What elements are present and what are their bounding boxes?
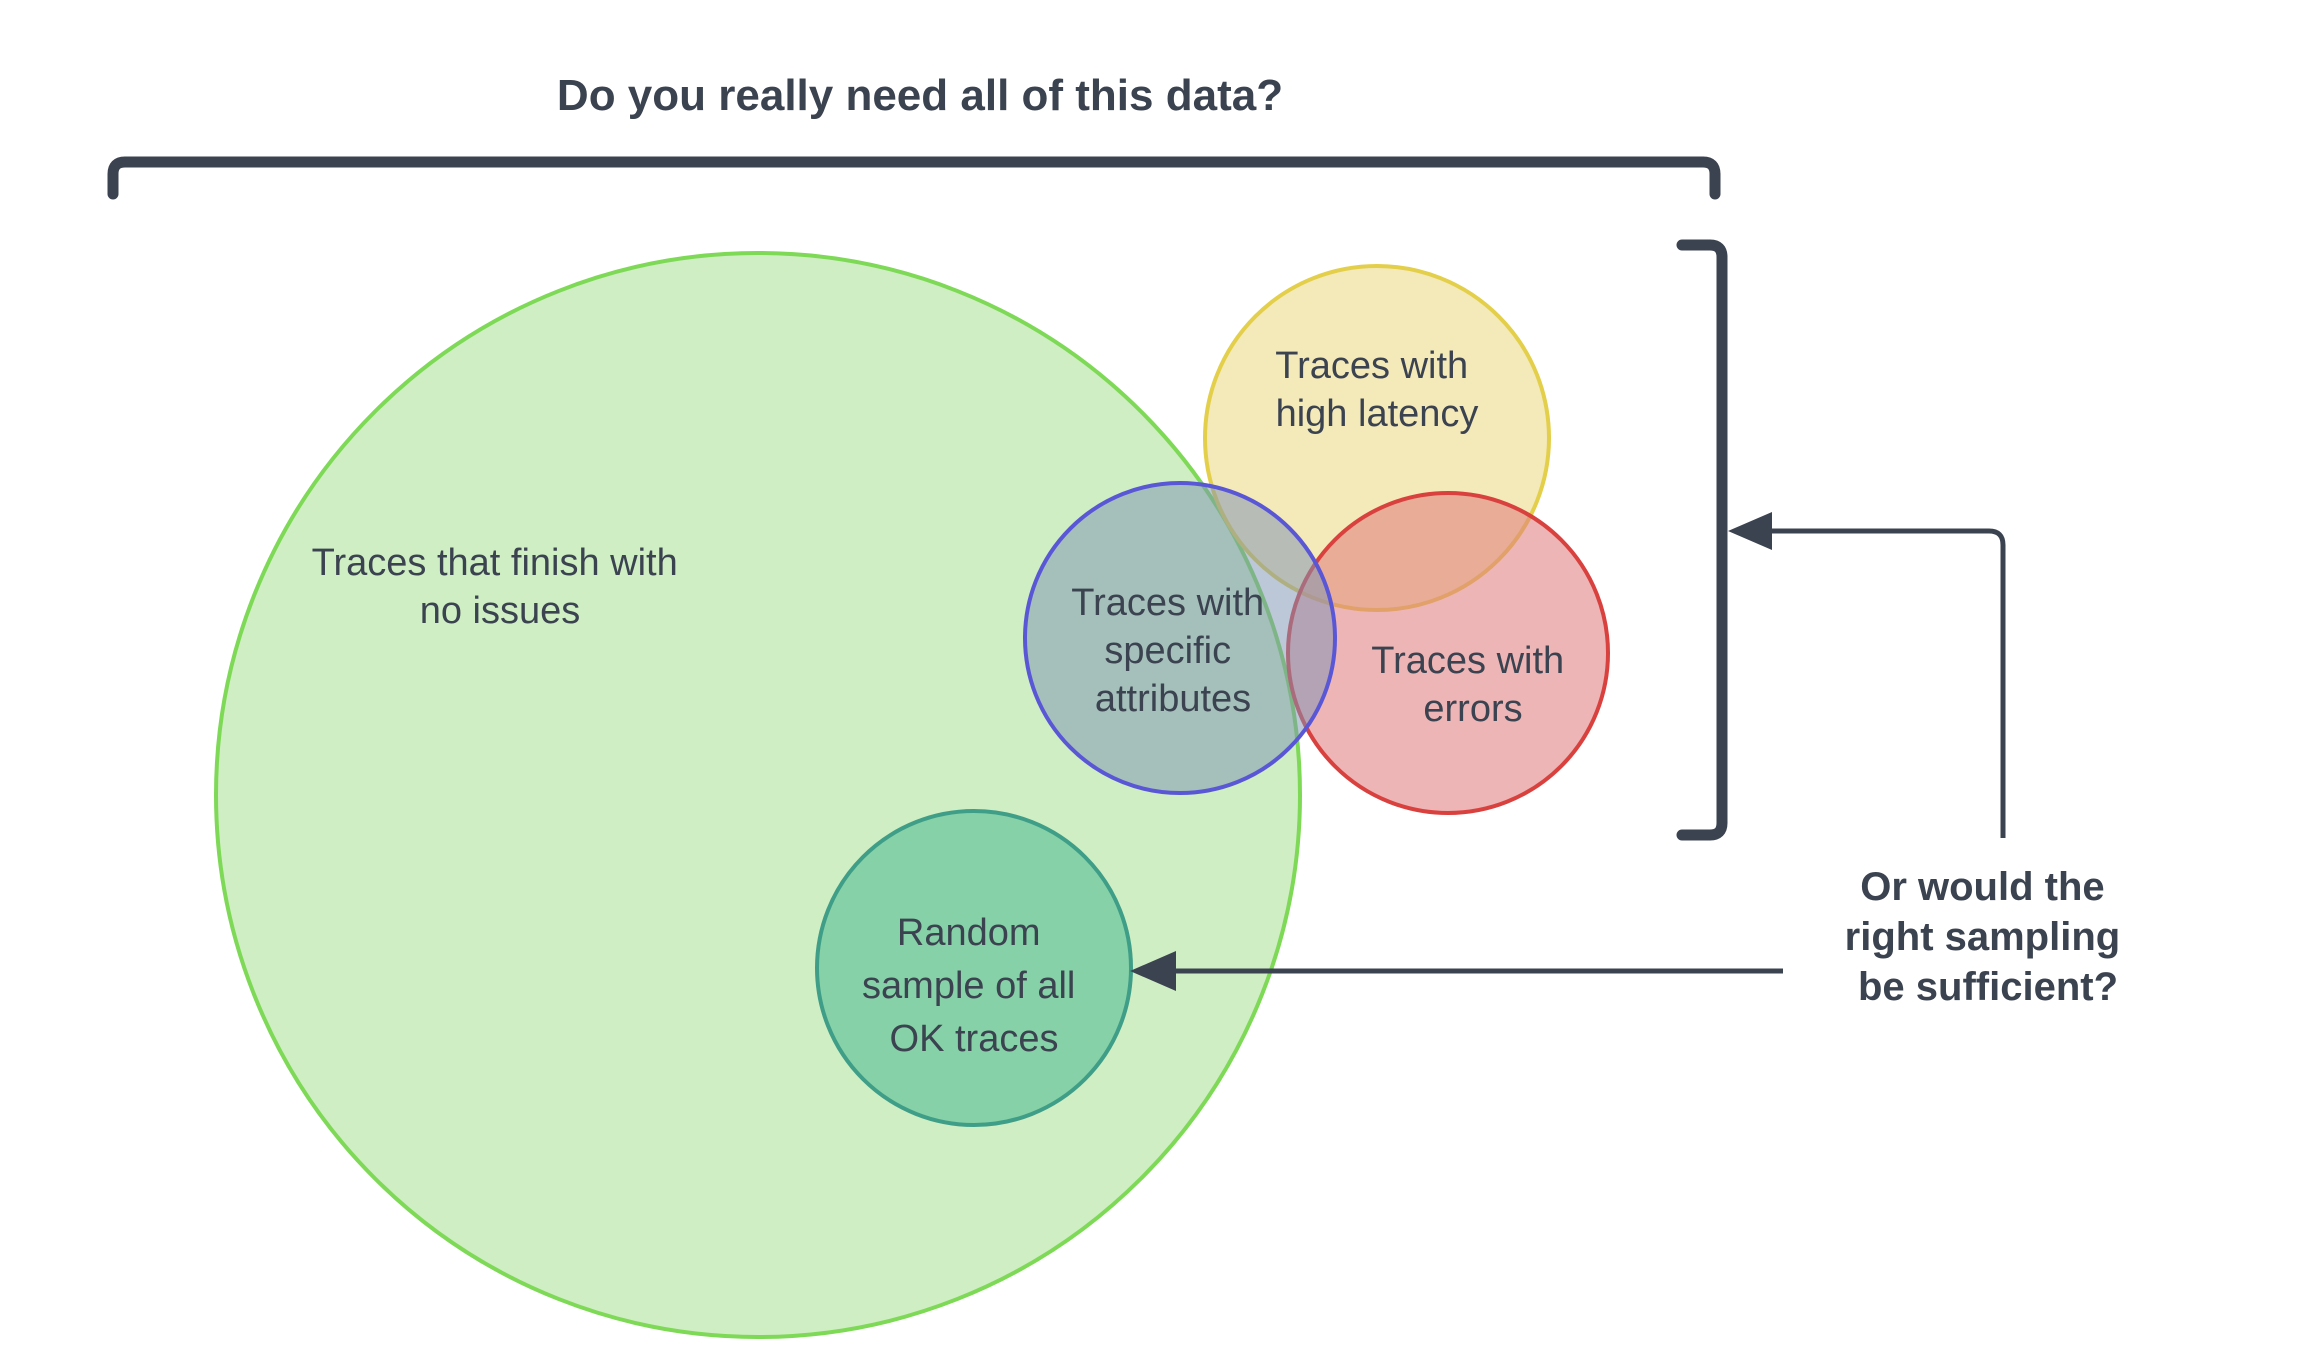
- label-line: specific: [1104, 630, 1231, 672]
- venn-diagram: Do you really need all of this data? Tra…: [0, 0, 2318, 1364]
- label-line: errors: [1423, 688, 1522, 730]
- side-note-line: be sufficient?: [1858, 965, 2118, 1009]
- circle-traces-no-issues[interactable]: Traces that finish with no issues: [216, 253, 1300, 1337]
- label-line: Traces with: [1071, 582, 1264, 624]
- traces-no-issues-shape[interactable]: [216, 253, 1300, 1337]
- label-line: Traces that finish with: [312, 542, 678, 584]
- label-line: sample of all: [862, 965, 1075, 1007]
- label-line: high latency: [1276, 393, 1479, 435]
- page-title: Do you really need all of this data?: [557, 71, 1283, 120]
- side-note-line: right sampling: [1845, 915, 2121, 959]
- elbow-arrow-to-bracket: [1728, 512, 2003, 838]
- label-line: Traces with: [1371, 640, 1564, 682]
- elbow-arrow-head-icon: [1728, 512, 1772, 550]
- label-line: no issues: [420, 590, 581, 632]
- side-note-text: Or would the right sampling be sufficien…: [1845, 865, 2132, 1009]
- side-note-line: Or would the: [1860, 865, 2104, 909]
- label-line: OK traces: [890, 1018, 1059, 1060]
- sampled-subset-bracket: [1682, 245, 1722, 835]
- elbow-arrow-line: [1756, 531, 2003, 838]
- all-data-bracket: [113, 162, 1715, 194]
- diagram-canvas: Do you really need all of this data? Tra…: [0, 0, 2318, 1364]
- label-line: Random: [897, 912, 1041, 954]
- label-line: attributes: [1095, 678, 1251, 720]
- label-line: Traces with: [1275, 345, 1468, 387]
